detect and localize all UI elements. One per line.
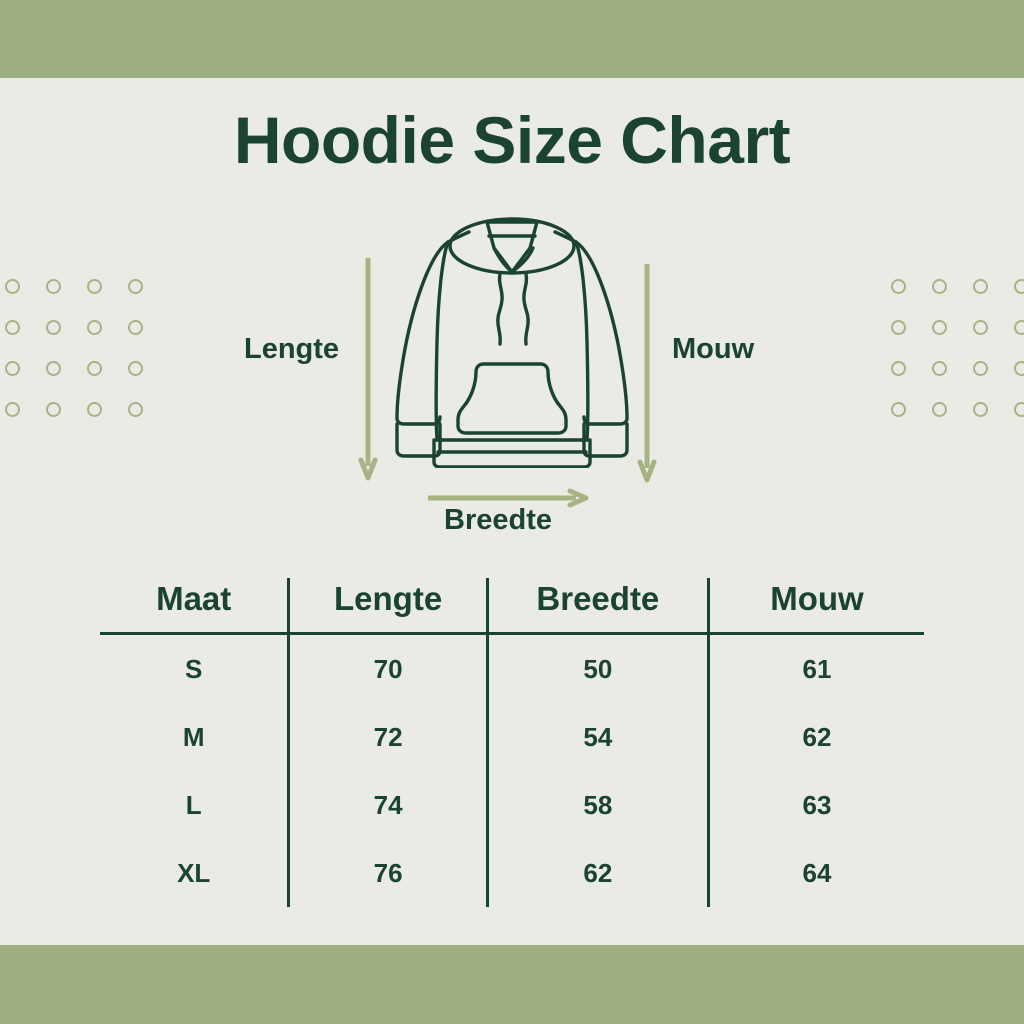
decorative-ring-icon bbox=[891, 361, 906, 376]
size-table-head: Maat Lengte Breedte Mouw bbox=[100, 578, 924, 634]
decorative-ring-icon bbox=[46, 402, 61, 417]
column-header-breedte: Breedte bbox=[487, 578, 708, 634]
decorative-ring-icon bbox=[973, 402, 988, 417]
decorative-ring-icon bbox=[87, 279, 102, 294]
cell-mouw: 62 bbox=[708, 703, 924, 771]
decorative-ring-icon bbox=[5, 361, 20, 376]
cell-breedte: 50 bbox=[487, 634, 708, 704]
decorative-ring-icon bbox=[46, 361, 61, 376]
cell-mouw: 61 bbox=[708, 634, 924, 704]
decorative-ring-icon bbox=[973, 361, 988, 376]
decorative-ring-icon bbox=[128, 361, 143, 376]
decorative-ring-icon bbox=[973, 320, 988, 335]
decorative-ring-icon bbox=[46, 320, 61, 335]
decorative-ring-icon bbox=[46, 279, 61, 294]
size-table: Maat Lengte Breedte Mouw S 70 50 61 M 72… bbox=[100, 578, 924, 907]
table-row: XL 76 62 64 bbox=[100, 839, 924, 907]
table-header-row: Maat Lengte Breedte Mouw bbox=[100, 578, 924, 634]
size-table-body: S 70 50 61 M 72 54 62 L 74 58 63 bbox=[100, 634, 924, 908]
decorative-ring-icon bbox=[891, 402, 906, 417]
table-row: L 74 58 63 bbox=[100, 771, 924, 839]
cell-size: S bbox=[100, 634, 289, 704]
decorative-ring-icon bbox=[1014, 320, 1024, 335]
decorative-ring-icon bbox=[128, 320, 143, 335]
bottom-banner-bar bbox=[0, 945, 1024, 1024]
size-table-container: Maat Lengte Breedte Mouw S 70 50 61 M 72… bbox=[100, 578, 924, 878]
cell-breedte: 58 bbox=[487, 771, 708, 839]
decorative-ring-icon bbox=[87, 320, 102, 335]
cell-lengte: 74 bbox=[289, 771, 487, 839]
cell-lengte: 76 bbox=[289, 839, 487, 907]
length-arrow-icon bbox=[360, 258, 376, 480]
hoodie-illustration-icon bbox=[390, 212, 634, 468]
decorative-ring-icon bbox=[5, 402, 20, 417]
decorative-dot-pattern-left bbox=[0, 266, 142, 426]
decorative-ring-icon bbox=[932, 320, 947, 335]
decorative-ring-icon bbox=[5, 320, 20, 335]
label-lengte: Lengte bbox=[244, 333, 339, 366]
cell-lengte: 72 bbox=[289, 703, 487, 771]
decorative-ring-icon bbox=[932, 361, 947, 376]
sleeve-arrow-icon bbox=[639, 264, 655, 482]
table-row: M 72 54 62 bbox=[100, 703, 924, 771]
decorative-ring-icon bbox=[932, 279, 947, 294]
decorative-ring-icon bbox=[891, 320, 906, 335]
column-header-mouw: Mouw bbox=[708, 578, 924, 634]
size-chart-poster: Hoodie Size Chart bbox=[0, 0, 1024, 1024]
decorative-ring-icon bbox=[891, 279, 906, 294]
page-title: Hoodie Size Chart bbox=[0, 104, 1024, 177]
cell-breedte: 62 bbox=[487, 839, 708, 907]
decorative-ring-icon bbox=[932, 402, 947, 417]
cell-mouw: 64 bbox=[708, 839, 924, 907]
column-header-lengte: Lengte bbox=[289, 578, 487, 634]
decorative-ring-icon bbox=[128, 279, 143, 294]
decorative-ring-icon bbox=[1014, 402, 1024, 417]
decorative-ring-icon bbox=[973, 279, 988, 294]
column-header-maat: Maat bbox=[100, 578, 289, 634]
decorative-ring-icon bbox=[87, 361, 102, 376]
top-banner-bar bbox=[0, 0, 1024, 78]
cell-breedte: 54 bbox=[487, 703, 708, 771]
label-breedte: Breedte bbox=[444, 504, 552, 537]
table-row: S 70 50 61 bbox=[100, 634, 924, 704]
decorative-ring-icon bbox=[128, 402, 143, 417]
cell-size: L bbox=[100, 771, 289, 839]
decorative-ring-icon bbox=[5, 279, 20, 294]
measurement-illustration: Lengte Mouw Breedte bbox=[232, 212, 792, 542]
cell-lengte: 70 bbox=[289, 634, 487, 704]
cell-size: M bbox=[100, 703, 289, 771]
decorative-ring-icon bbox=[1014, 279, 1024, 294]
decorative-ring-icon bbox=[87, 402, 102, 417]
decorative-dot-pattern-right bbox=[878, 266, 1024, 426]
label-mouw: Mouw bbox=[672, 333, 754, 366]
cell-size: XL bbox=[100, 839, 289, 907]
decorative-ring-icon bbox=[1014, 361, 1024, 376]
cell-mouw: 63 bbox=[708, 771, 924, 839]
